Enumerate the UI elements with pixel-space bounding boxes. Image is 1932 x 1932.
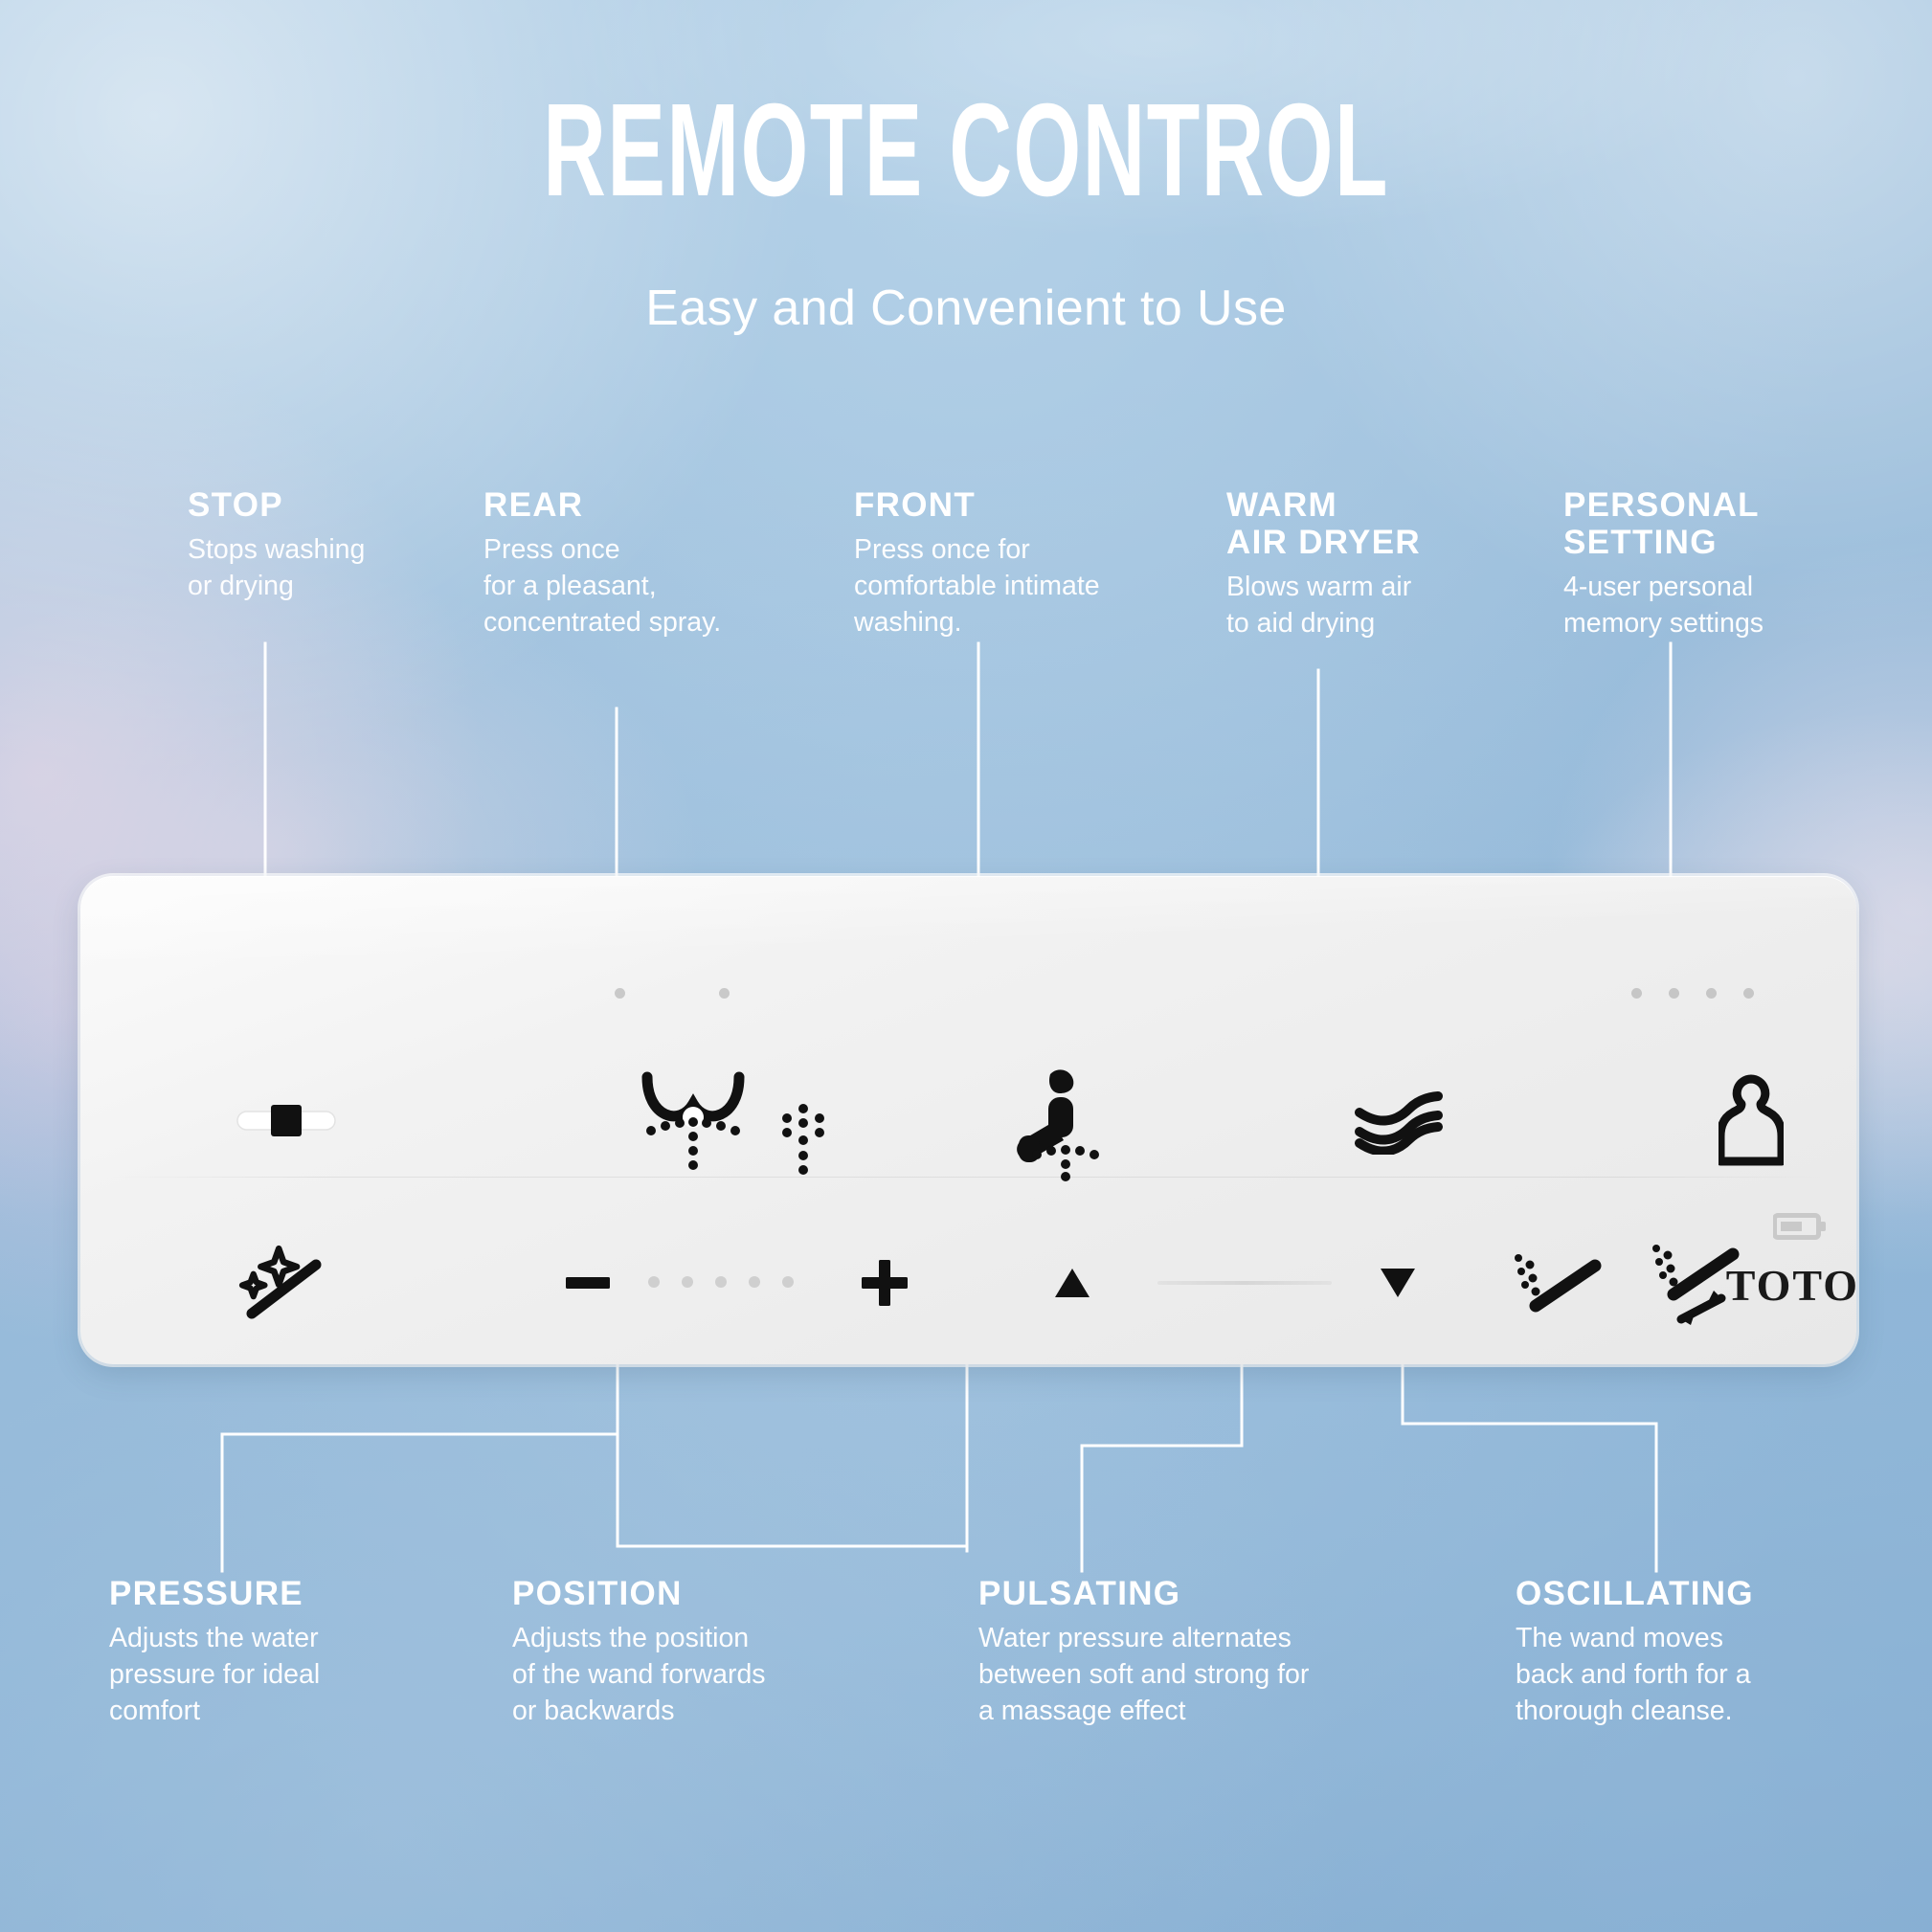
callout-pulsating: PULSATING Water pressure alternates betw… [978,1575,1361,1730]
toto-logo: TOTO [1726,1260,1859,1311]
callout-title: POSITION [512,1575,828,1612]
callout-desc: Press once for comfortable intimate wash… [854,532,1170,641]
battery-low-icon [1773,1212,1827,1241]
rear-button[interactable] [621,1053,765,1187]
remote-control-panel [80,876,1856,1364]
magic-wand-sparkle-icon [236,1243,327,1323]
pressure-level-dots [648,1276,794,1288]
callout-title: PULSATING [978,1575,1361,1612]
callout-desc: Stops washing or drying [188,532,408,605]
triangle-down-icon [1379,1267,1417,1299]
callout-desc: Water pressure alternates between soft a… [978,1621,1361,1730]
stop-pill-icon [234,1099,339,1141]
callout-desc: Adjusts the water pressure for ideal com… [109,1621,387,1730]
pressure-plus-button[interactable] [846,1247,923,1318]
plus-icon [862,1260,908,1306]
position-track[interactable] [1157,1281,1332,1285]
rear-soft-button[interactable] [751,1087,856,1192]
callout-title: PRESSURE [109,1575,387,1612]
callout-title: OSCILLATING [1516,1575,1831,1612]
pulsating-wand-icon [1513,1247,1606,1319]
position-down-button[interactable] [1363,1251,1432,1314]
stop-button[interactable] [210,1067,363,1173]
rear-soft-spray-icon [779,1102,827,1177]
cleaning-wand-button[interactable] [214,1230,348,1336]
callout-title: WARM AIR DRYER [1226,486,1494,561]
personal-setting-button[interactable] [1679,1053,1823,1187]
warm-air-waves-icon [1352,1086,1451,1155]
callout-rear: REAR Press once for a pleasant, concentr… [483,486,780,641]
callout-position: POSITION Adjusts the position of the wan… [512,1575,828,1730]
callout-desc: 4-user personal memory settings [1563,570,1851,642]
panel-divider [107,1177,1830,1178]
page-subtitle: Easy and Convenient to Use [0,283,1932,333]
person-silhouette-icon [1719,1073,1784,1167]
warm-air-dryer-button[interactable] [1325,1067,1478,1173]
callout-front: FRONT Press once for comfortable intimat… [854,486,1170,641]
callout-warm-air-dryer: WARM AIR DRYER Blows warm air to aid dry… [1226,486,1494,642]
front-wash-seated-person-icon [1003,1059,1120,1181]
callout-title: REAR [483,486,780,524]
callout-title: PERSONAL SETTING [1563,486,1851,561]
callout-desc: Press once for a pleasant, concentrated … [483,532,780,641]
personal-setting-dots [1631,988,1754,999]
rear-indicator-dot-1 [615,988,625,999]
callout-title: STOP [188,486,408,524]
callout-title: FRONT [854,486,1170,524]
callout-desc: Adjusts the position of the wand forward… [512,1621,828,1730]
callout-personal-setting: PERSONAL SETTING 4-user personal memory … [1563,486,1851,642]
pulsating-wand-button[interactable] [1497,1230,1622,1336]
rear-wash-icon [636,1064,751,1177]
minus-icon [566,1277,610,1289]
callout-oscillating: OSCILLATING The wand moves back and fort… [1516,1575,1831,1730]
position-up-button[interactable] [1038,1251,1107,1314]
callout-stop: STOP Stops washing or drying [188,486,408,605]
page-title: REMOTE CONTROL [328,84,1604,216]
callout-desc: The wand moves back and forth for a thor… [1516,1621,1831,1730]
front-button[interactable] [980,1048,1143,1192]
callout-pressure: PRESSURE Adjusts the water pressure for … [109,1575,387,1730]
callout-desc: Blows warm air to aid drying [1226,570,1494,642]
rear-indicator-dot-2 [719,988,730,999]
triangle-up-icon [1053,1267,1091,1299]
pressure-minus-button[interactable] [550,1249,626,1316]
